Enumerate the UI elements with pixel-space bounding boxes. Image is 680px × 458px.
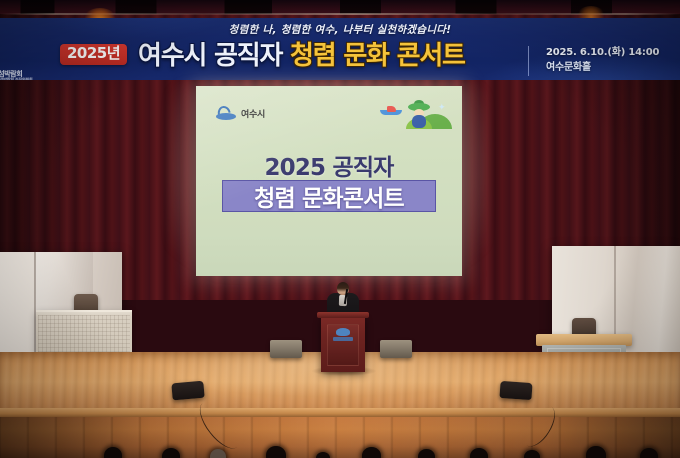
audience-head bbox=[162, 448, 180, 458]
slide-title-line2-box: 청렴 문화콘서트 bbox=[222, 180, 436, 212]
audience-head bbox=[640, 448, 658, 458]
banner-title-highlight: 청렴 문화 콘서트 bbox=[290, 41, 465, 71]
banner-date: 2025. 6.10.(화) 14:00 bbox=[546, 45, 659, 60]
slide-illustration: ✦ bbox=[380, 100, 454, 130]
banner-title-part1: 여수시 공직자 bbox=[138, 41, 290, 71]
banner-venue: 여수문화홀 bbox=[546, 60, 659, 75]
yeosu-city-logo-icon bbox=[216, 106, 236, 120]
banner-divider bbox=[528, 46, 529, 76]
year-badge: 2025년 bbox=[60, 44, 127, 65]
audience-head bbox=[266, 446, 286, 458]
mascot-character-icon bbox=[408, 102, 430, 129]
audience-silhouettes bbox=[0, 436, 680, 458]
audience-head bbox=[470, 448, 488, 458]
stage-riser-block-right bbox=[380, 340, 412, 358]
stage-riser-block-left bbox=[270, 340, 302, 358]
audience-head bbox=[316, 452, 330, 458]
expo-logo-subtitle: 여수세계섬박람회 조직위원회 bbox=[0, 77, 44, 80]
left-skirted-table bbox=[36, 310, 132, 354]
slide-title-line1: 2025 공직자 bbox=[196, 148, 462, 182]
event-banner: 청렴한 나, 청렴한 여수, 나부터 실천하겠습니다! 세계섬박람회 여수세계섬… bbox=[0, 18, 680, 80]
projection-screen: 여수시 ✦ 2025 공직자 청렴 문화콘서트 bbox=[196, 86, 462, 276]
banner-title: 여수시 공직자 청렴 문화 콘서트 bbox=[138, 40, 465, 73]
sparkle-icon: ✦ bbox=[438, 102, 450, 114]
banner-slogan: 청렴한 나, 청렴한 여수, 나부터 실천하겠습니다! bbox=[0, 22, 680, 37]
auditorium-stage-photo: 청렴한 나, 청렴한 여수, 나부터 실천하겠습니다! 세계섬박람회 여수세계섬… bbox=[0, 0, 680, 458]
audience-head bbox=[524, 450, 540, 458]
boat-icon bbox=[380, 106, 402, 115]
audience-head bbox=[418, 449, 435, 458]
audience-head bbox=[586, 446, 606, 458]
projection-screen-content: 여수시 ✦ 2025 공직자 청렴 문화콘서트 bbox=[196, 86, 462, 276]
banner-meta: 2025. 6.10.(화) 14:00 여수문화홀 bbox=[546, 45, 659, 75]
left-floor-monitor-speaker bbox=[171, 381, 204, 401]
slide-title-line2: 청렴 문화콘서트 bbox=[254, 179, 404, 213]
podium-emblem-icon bbox=[333, 328, 353, 343]
valance-rod bbox=[0, 13, 680, 15]
podium bbox=[321, 316, 365, 372]
audience-head bbox=[362, 447, 381, 458]
slide-city-logo-label: 여수시 bbox=[241, 107, 265, 120]
podium-top-surface bbox=[317, 312, 369, 318]
expo-logo: 세계섬박람회 여수세계섬박람회 조직위원회 5.－11.4. bbox=[0, 44, 44, 80]
audience-head bbox=[104, 447, 122, 458]
slide-city-logo: 여수시 bbox=[216, 106, 265, 120]
right-floor-monitor-speaker bbox=[499, 381, 532, 400]
audience-head bbox=[210, 449, 226, 458]
